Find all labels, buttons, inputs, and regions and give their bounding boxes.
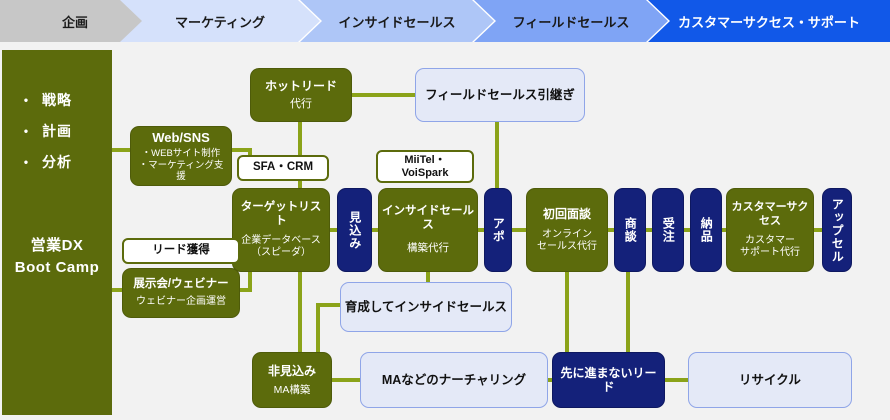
- node-expo-webinar[interactable]: 展示会/ウェビナー ウェビナー企画運営: [122, 268, 240, 318]
- node-sfa-crm-title: SFA・CRM: [253, 161, 313, 175]
- node-stalled-lead-title: 先に進まないリード: [556, 366, 661, 395]
- sidebar-bullet-0: • 戦略: [20, 90, 112, 110]
- node-customer-success-sub: カスタマー サポート代行: [740, 235, 800, 259]
- node-prospect-title: 見込み: [347, 211, 361, 250]
- node-non-prospect-sub: MA構築: [274, 384, 311, 397]
- node-negotiation-title: 商談: [623, 217, 637, 243]
- node-lead-acquire-title: リード獲得: [152, 244, 210, 258]
- node-web-sns-sub: ・WEBサイト制作 ・マーケティング支援: [134, 148, 228, 182]
- flow-diagram-canvas: 企画 マーケティング インサイドセールス フィールドセールス カスタマーサクセス…: [0, 0, 890, 420]
- bullet-dot-icon: •: [20, 93, 32, 107]
- node-hot-lead[interactable]: ホットリード 代行: [250, 68, 352, 122]
- node-lead-acquire[interactable]: リード獲得: [122, 238, 240, 264]
- node-upsell-title: アップセル: [830, 198, 844, 263]
- node-upsell[interactable]: アップセル: [822, 188, 852, 272]
- node-hot-lead-sub: 代行: [290, 98, 312, 111]
- sidebar-bullet-1: • 計画: [20, 121, 112, 141]
- node-target-list-title: ターゲットリスト: [236, 201, 326, 229]
- sidebar-panel: • 戦略 • 計画 • 分析 営業DX Boot Camp: [2, 50, 112, 415]
- sidebar-bullet-label-1: 計画: [42, 121, 72, 141]
- brand-line-1: 営業DX: [2, 235, 112, 257]
- stage-label-4: カスタマーサクセス・サポート: [678, 12, 860, 31]
- node-field-handover[interactable]: フィールドセールス引継ぎ: [415, 68, 585, 122]
- node-sfa-crm[interactable]: SFA・CRM: [237, 155, 329, 181]
- stage-chevron-4[interactable]: カスタマーサクセス・サポート: [648, 0, 890, 42]
- node-prospect[interactable]: 見込み: [337, 188, 372, 272]
- node-web-sns-title: Web/SNS: [152, 130, 210, 146]
- node-expo-webinar-sub: ウェビナー企画運営: [136, 296, 226, 308]
- node-target-list[interactable]: ターゲットリスト 企業データベース （スピーダ）: [232, 188, 330, 272]
- node-hot-lead-title: ホットリード: [265, 79, 337, 93]
- node-field-handover-title: フィールドセールス引継ぎ: [425, 88, 575, 103]
- node-ma-nurturing[interactable]: MAなどのナーチャリング: [360, 352, 548, 408]
- node-stalled-lead[interactable]: 先に進まないリード: [552, 352, 665, 408]
- stage-chevron-3[interactable]: フィールドセールス: [474, 0, 668, 42]
- node-appointment[interactable]: アポ: [484, 188, 512, 272]
- brand-title: 営業DX Boot Camp: [2, 235, 112, 279]
- node-inside-sales-title: インサイドセールス: [382, 205, 474, 233]
- node-inside-sales-sub: 構築代行: [407, 242, 449, 255]
- node-miitel-title: MiiTel・ VoiSpark: [402, 154, 449, 179]
- node-nurture-inside-sales[interactable]: 育成してインサイドセールス: [340, 282, 512, 332]
- node-delivery-title: 納品: [699, 217, 713, 243]
- brand-line-2: Boot Camp: [2, 257, 112, 279]
- node-customer-success-title: カスタマーサクセス: [730, 201, 810, 227]
- sidebar-bullet-list: • 戦略 • 計画 • 分析: [20, 90, 112, 183]
- stage-label-2: インサイドセールス: [338, 12, 455, 31]
- node-expo-webinar-title: 展示会/ウェビナー: [133, 278, 228, 292]
- stage-chevron-1[interactable]: マーケティング: [120, 0, 320, 42]
- node-first-meeting-title: 初回面談: [543, 207, 591, 221]
- node-order[interactable]: 受注: [652, 188, 684, 272]
- stage-header-band: 企画 マーケティング インサイドセールス フィールドセールス カスタマーサクセス…: [0, 0, 890, 42]
- node-nurture-inside-sales-title: 育成してインサイドセールス: [345, 300, 507, 315]
- node-web-sns[interactable]: Web/SNS ・WEBサイト制作 ・マーケティング支援: [130, 126, 232, 186]
- node-non-prospect[interactable]: 非見込み MA構築: [252, 352, 332, 408]
- node-recycle[interactable]: リサイクル: [688, 352, 852, 408]
- node-non-prospect-title: 非見込み: [268, 364, 316, 378]
- bullet-dot-icon: •: [20, 124, 32, 138]
- node-miitel[interactable]: MiiTel・ VoiSpark: [376, 150, 474, 183]
- node-first-meeting[interactable]: 初回面談 オンライン セールス代行: [526, 188, 608, 272]
- sidebar-bullet-label-2: 分析: [42, 152, 72, 172]
- node-negotiation[interactable]: 商談: [614, 188, 646, 272]
- node-target-list-sub: 企業データベース （スピーダ）: [241, 235, 321, 259]
- stage-label-3: フィールドセールス: [513, 12, 630, 31]
- sidebar-bullet-label-0: 戦略: [42, 90, 72, 110]
- node-first-meeting-sub: オンライン セールス代行: [537, 229, 597, 253]
- node-order-title: 受注: [661, 217, 675, 243]
- node-recycle-title: リサイクル: [739, 373, 801, 388]
- bullet-dot-icon: •: [20, 155, 32, 169]
- node-appointment-title: アポ: [491, 217, 505, 243]
- node-inside-sales[interactable]: インサイドセールス 構築代行: [378, 188, 478, 272]
- node-ma-nurturing-title: MAなどのナーチャリング: [382, 373, 526, 388]
- node-customer-success[interactable]: カスタマーサクセス カスタマー サポート代行: [726, 188, 814, 272]
- sidebar-bullet-2: • 分析: [20, 152, 112, 172]
- stage-label-1: マーケティング: [175, 12, 265, 31]
- stage-label-0: 企画: [62, 12, 88, 31]
- node-delivery[interactable]: 納品: [690, 188, 722, 272]
- stage-chevron-2[interactable]: インサイドセールス: [300, 0, 494, 42]
